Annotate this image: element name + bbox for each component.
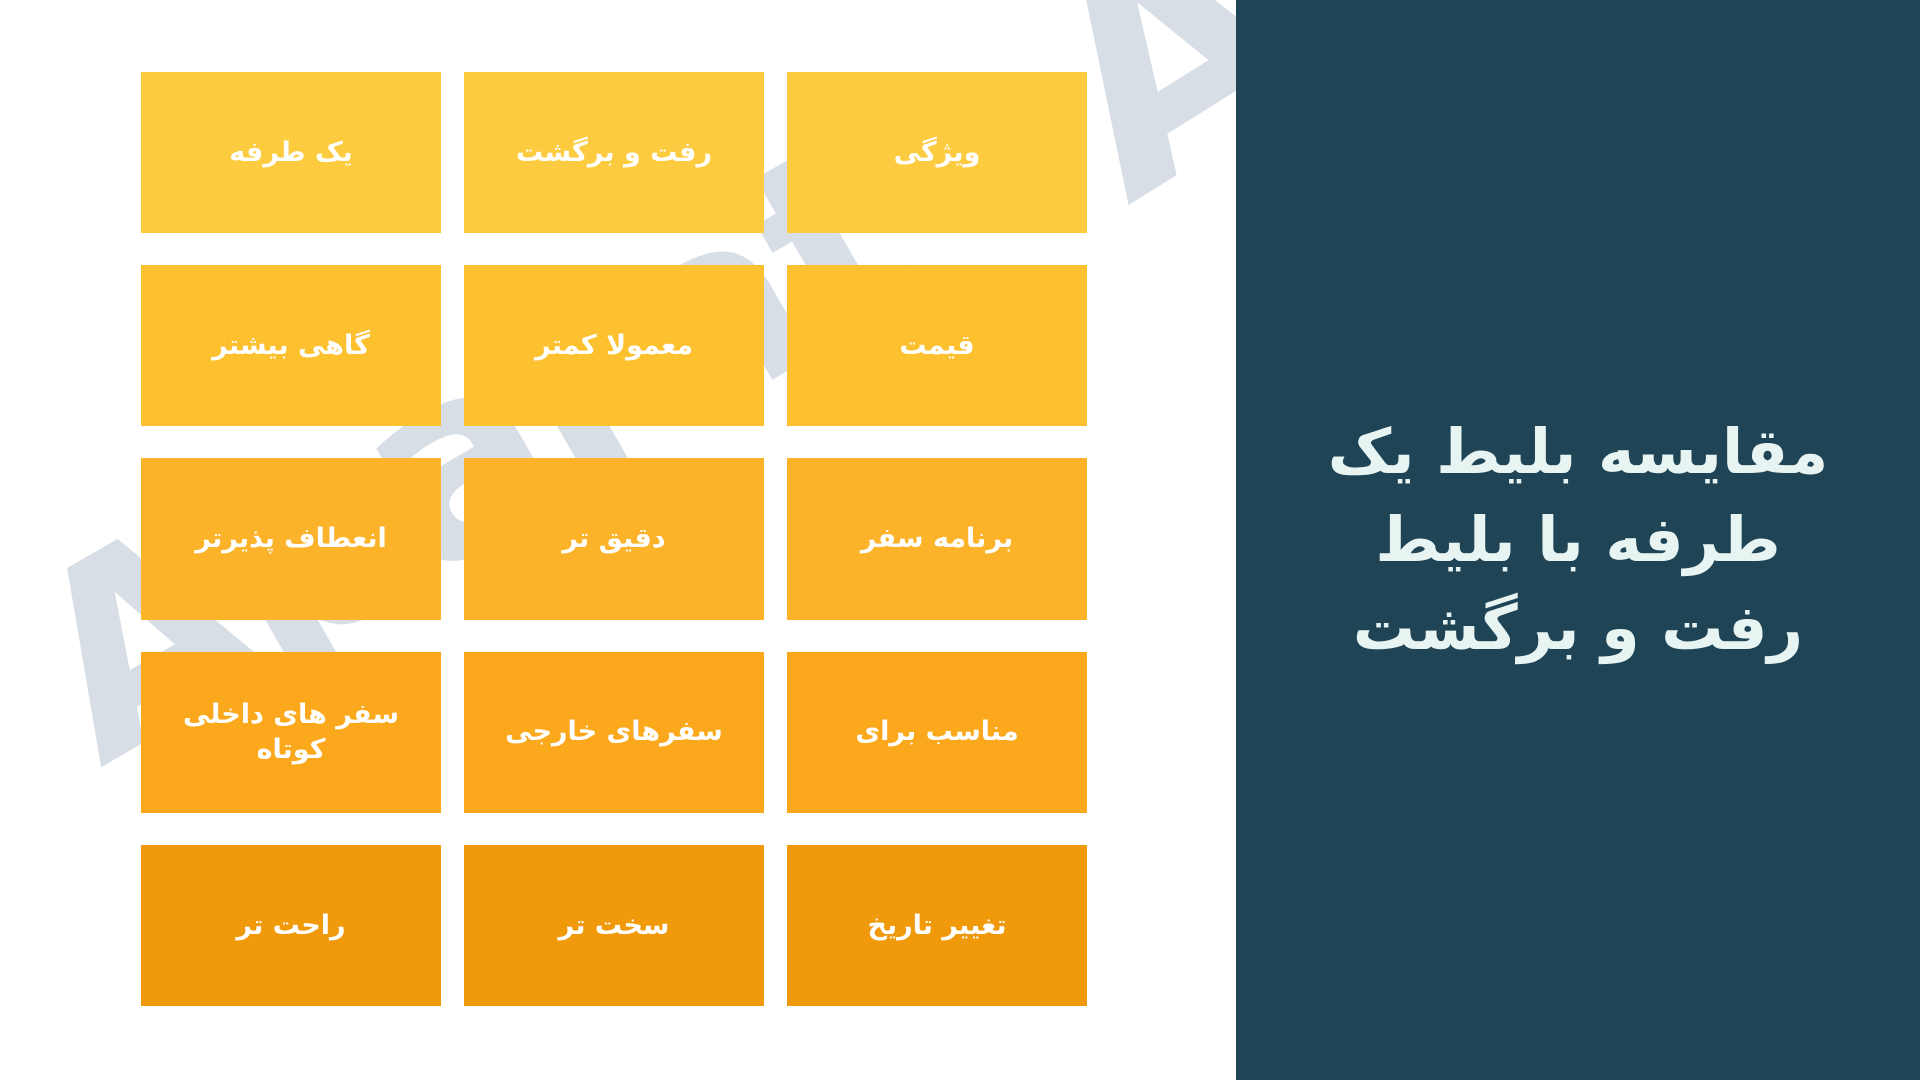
table-cell-r4-c3: سفر های داخلی کوتاه [141, 652, 441, 813]
page-title: مقایسه بلیط یک طرفه با بلیط رفت و برگشت [1298, 408, 1858, 672]
table-cell-r3-c1: برنامه سفر [787, 458, 1087, 619]
comparison-table: ویژگیرفت و برگشتیک طرفهقیمتمعمولا کمترگا… [141, 72, 1087, 1006]
table-cell-r1-c2: رفت و برگشت [464, 72, 764, 233]
table-cell-r2-c3: گاهی بیشتر [141, 265, 441, 426]
slide-canvas: Aparat Aparat ویژگیرفت و برگشتیک طرفهقیم… [0, 0, 1920, 1080]
table-cell-r5-c3: راحت تر [141, 845, 441, 1006]
table-cell-r4-c1: مناسب برای [787, 652, 1087, 813]
table-cell-r3-c3: انعطاف پذیرتر [141, 458, 441, 619]
table-cell-r5-c2: سخت تر [464, 845, 764, 1006]
title-panel: مقایسه بلیط یک طرفه با بلیط رفت و برگشت [1236, 0, 1920, 1080]
table-cell-r2-c1: قیمت [787, 265, 1087, 426]
table-cell-r2-c2: معمولا کمتر [464, 265, 764, 426]
table-cell-r3-c2: دقیق تر [464, 458, 764, 619]
table-cell-r5-c1: تغییر تاریخ [787, 845, 1087, 1006]
table-cell-r4-c2: سفرهای خارجی [464, 652, 764, 813]
table-cell-r1-c3: یک طرفه [141, 72, 441, 233]
table-cell-r1-c1: ویژگی [787, 72, 1087, 233]
